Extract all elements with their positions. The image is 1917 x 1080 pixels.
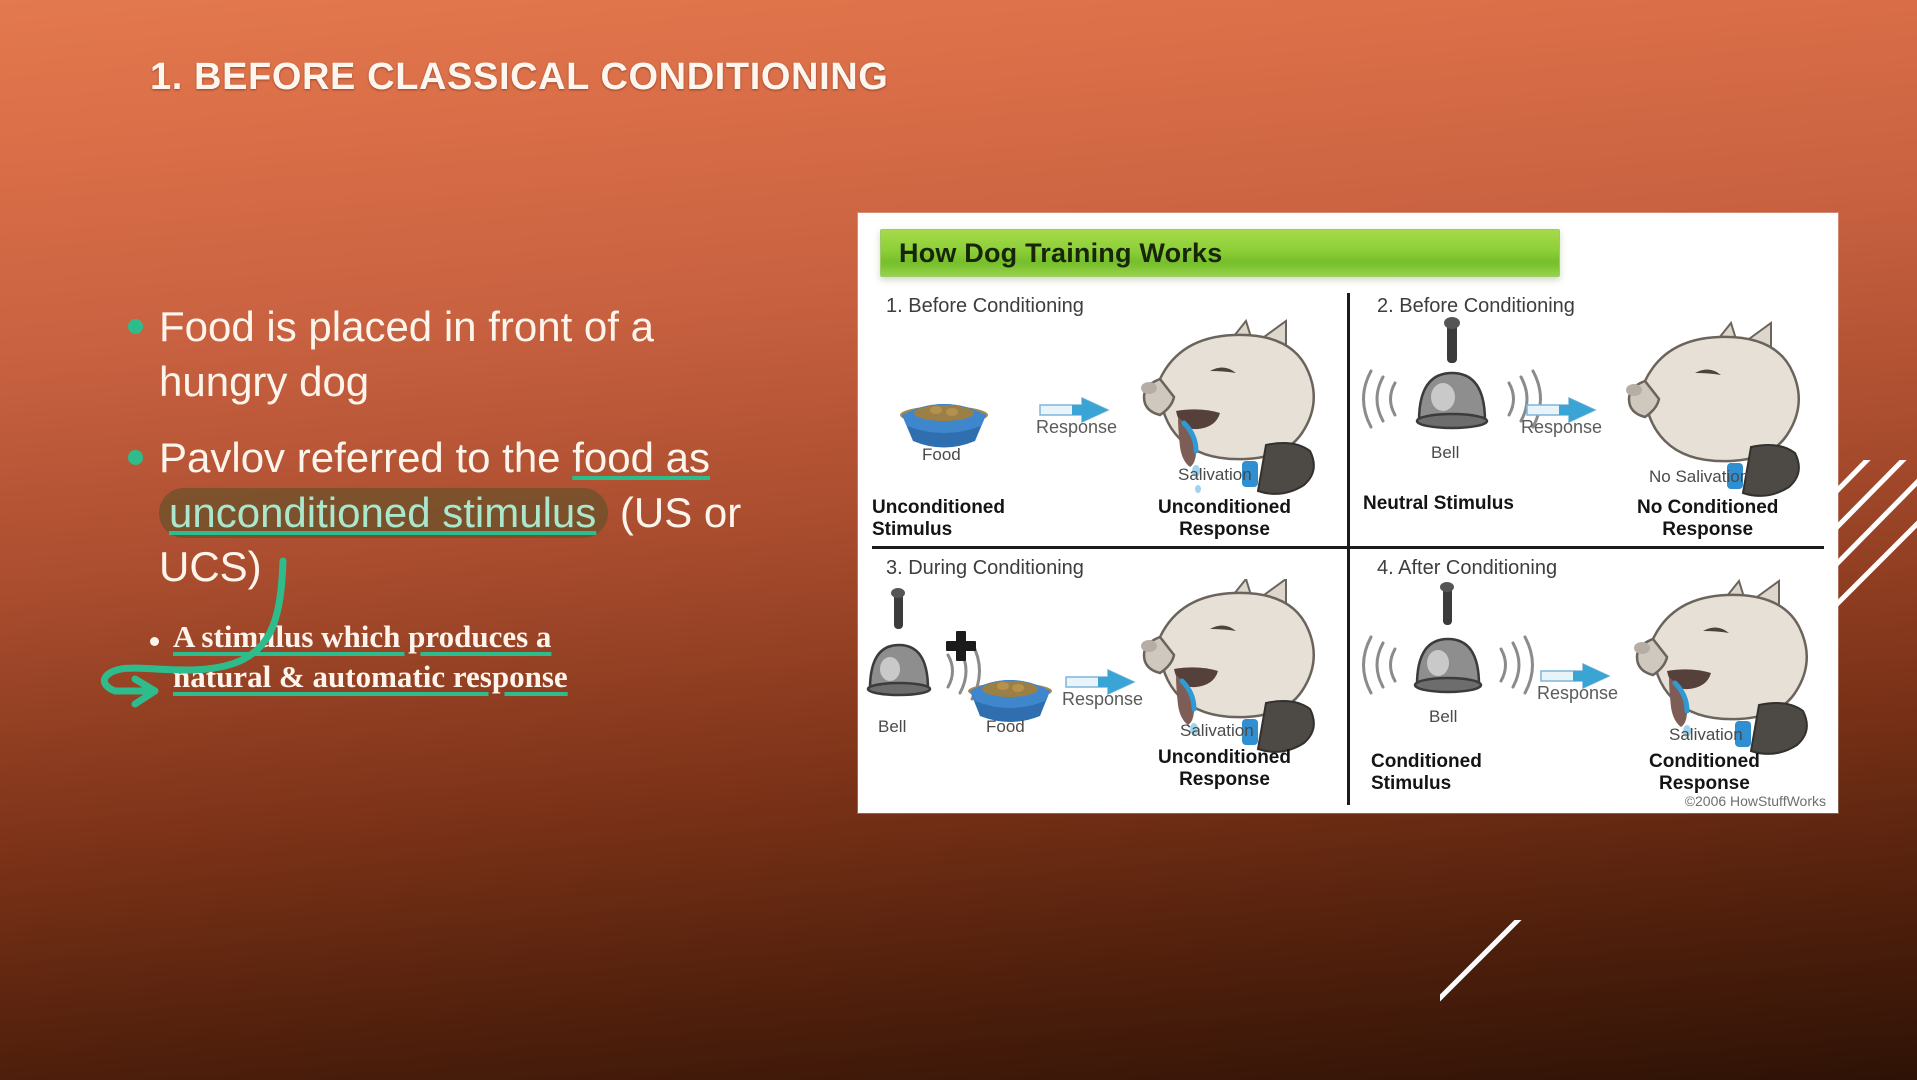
ringing-bell-icon <box>1364 317 1541 428</box>
bullet-text-pavlov-us: Pavlov referred to the food as unconditi… <box>159 431 748 595</box>
quadrant-2-response-bold: No Conditioned Response <box>1637 497 1778 541</box>
diagram-quadrant-grid: 1. Before Conditioning <box>858 287 1838 813</box>
list-item: Pavlov referred to the food as unconditi… <box>128 431 748 595</box>
quadrant-2-stimulus-bold: Neutral Stimulus <box>1363 493 1514 515</box>
underlined-term-food: food <box>572 434 654 481</box>
quadrant-4-stage: Response Bell Salivation Conditioned Sti… <box>1349 579 1838 779</box>
content-column: Food is placed in front of a hungry dog … <box>128 300 748 696</box>
dog-food-bowl-icon <box>900 404 988 448</box>
quadrant-3-response-label: Salivation <box>1180 721 1254 741</box>
sub-bullet-text: A stimulus which produces a natural & au… <box>173 617 568 696</box>
sub-bullet-container: A stimulus which produces a natural & au… <box>150 617 748 696</box>
list-item: A stimulus which produces a natural & au… <box>150 617 748 696</box>
quadrant-3-stimulus-label: Bell <box>878 717 906 737</box>
quadrant-2-title: 2. Before Conditioning <box>1377 295 1575 318</box>
quadrant-2-stage: Response Bell No Salivation Neutral Stim… <box>1349 317 1838 517</box>
quadrant-3-arrow-label: Response <box>1062 689 1143 710</box>
sub-bullet-line-1: A stimulus which produces a <box>173 619 551 654</box>
decorative-diagonal-stripe-bottom <box>1440 920 1640 1060</box>
quadrant-4-stimulus-label: Bell <box>1429 707 1457 727</box>
diagram-image-frame: How Dog Training Works 1. Before Conditi… <box>858 213 1838 813</box>
list-item: Food is placed in front of a hungry dog <box>128 300 748 409</box>
page-title: 1. BEFORE CLASSICAL CONDITIONING <box>150 56 888 99</box>
dog-food-bowl-icon <box>968 680 1052 722</box>
quadrant-2-response-label: No Salivation <box>1649 467 1749 487</box>
highlighted-term-unconditioned-stimulus: unconditioned stimulus <box>159 488 608 538</box>
quadrant-4-response-bold: Conditioned Response <box>1649 751 1760 795</box>
stripe-bottom-svg <box>1440 920 1640 1060</box>
copyright-credit: ©2006 HowStuffWorks <box>1685 793 1826 809</box>
quadrant-4-stimulus-bold: Conditioned Stimulus <box>1371 751 1482 795</box>
quadrant-1-stage: Response Food Salivation Unconditioned S… <box>858 317 1347 517</box>
bullet-dot-icon <box>128 450 143 465</box>
quadrant-2-arrow-label: Response <box>1521 417 1602 438</box>
quadrant-3-stage: Response Bell Food Salivation Unconditio… <box>858 579 1347 779</box>
bullet-segment-as: as <box>654 434 710 481</box>
quadrant-3: 3. During Conditioning <box>858 549 1347 808</box>
bullet-segment-text: Pavlov referred to the <box>159 434 572 481</box>
quadrant-3-response-bold: Unconditioned Response <box>1158 747 1291 791</box>
diagram-banner-title: How Dog Training Works <box>899 238 1222 269</box>
quadrant-4: 4. After Conditioning <box>1349 549 1838 808</box>
quadrant-4-title: 4. After Conditioning <box>1377 557 1557 580</box>
quadrant-4-response-label: Salivation <box>1669 725 1743 745</box>
quadrant-1-stimulus-label: Food <box>922 445 961 465</box>
quadrant-1-title: 1. Before Conditioning <box>886 295 1084 318</box>
quadrant-3-title: 3. During Conditioning <box>886 557 1084 580</box>
bullet-text-food-placed: Food is placed in front of a hungry dog <box>159 300 748 409</box>
quadrant-1-stimulus-bold: Unconditioned Stimulus <box>872 497 1005 541</box>
quadrant-4-illustration <box>1349 579 1838 779</box>
quadrant-1-response-bold: Unconditioned Response <box>1158 497 1291 541</box>
sub-bullet-line-2: natural & automatic response <box>173 659 568 694</box>
diagram-banner: How Dog Training Works <box>880 229 1560 277</box>
ringing-bell-icon <box>1364 582 1533 693</box>
quadrant-2: 2. Before Conditioning <box>1349 287 1838 546</box>
bullet-segment-text: Food is placed in front of a hungry dog <box>159 303 654 405</box>
quadrant-2-stimulus-label: Bell <box>1431 443 1459 463</box>
plus-sign-icon <box>946 631 976 661</box>
quadrant-1-arrow-label: Response <box>1036 417 1117 438</box>
quadrant-1: 1. Before Conditioning <box>858 287 1347 546</box>
bullet-dot-icon <box>128 319 143 334</box>
quadrant-3-stimulus-label-2: Food <box>986 717 1025 737</box>
quadrant-4-arrow-label: Response <box>1537 683 1618 704</box>
quadrant-1-response-label: Salivation <box>1178 465 1252 485</box>
sub-bullet-dot-icon <box>150 637 159 646</box>
